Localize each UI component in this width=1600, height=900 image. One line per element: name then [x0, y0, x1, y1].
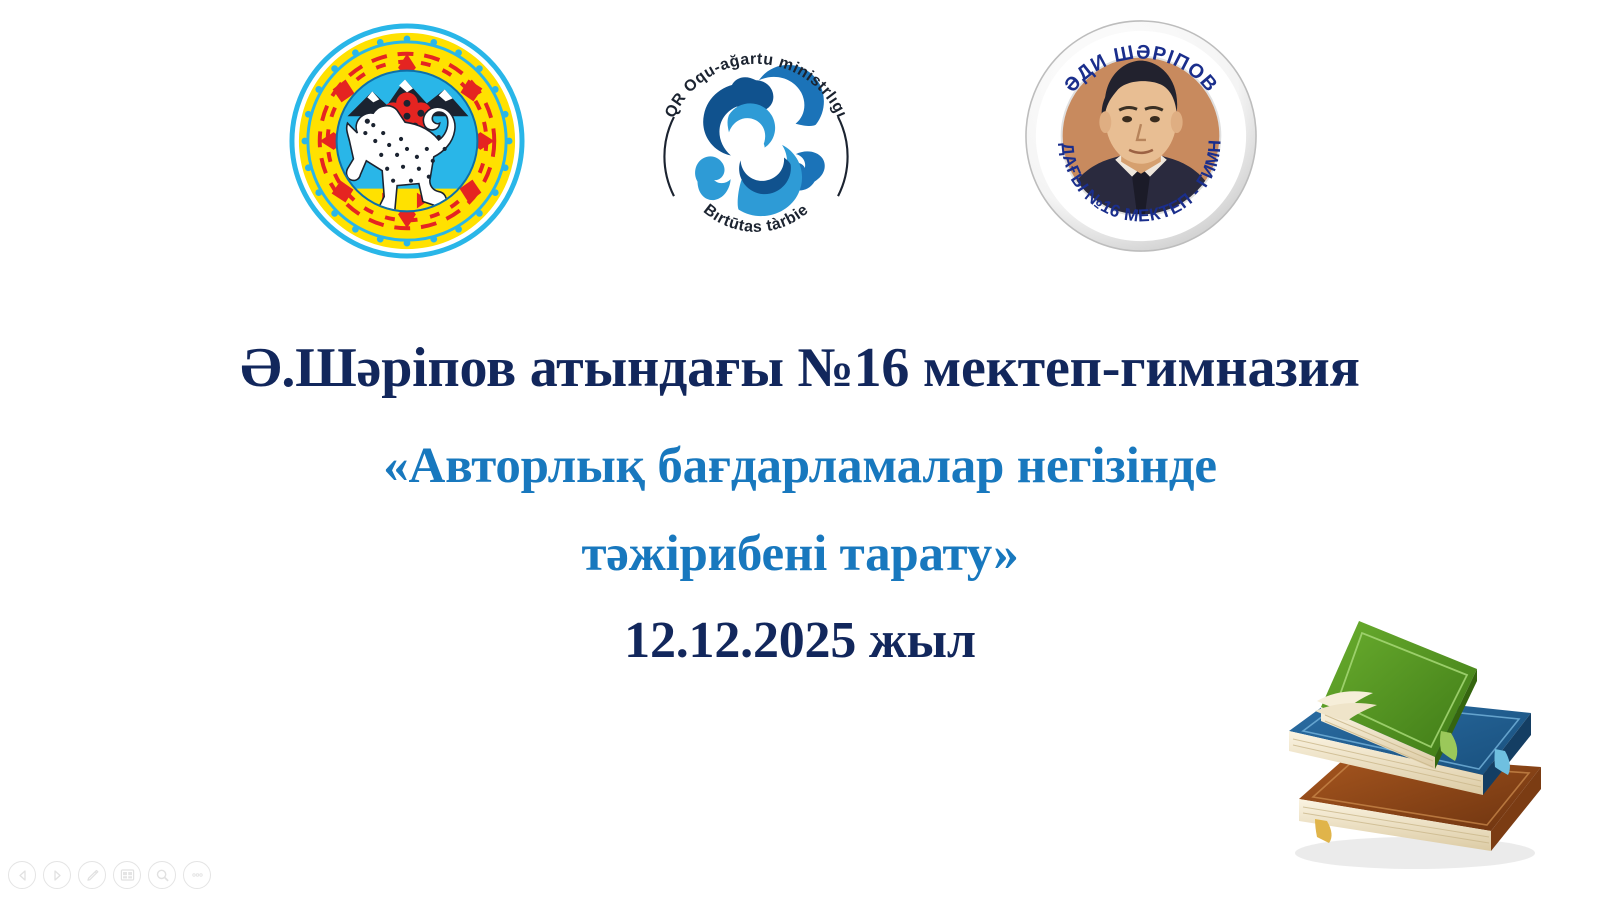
presentation-toolbar: [8, 858, 211, 892]
triangle-left-icon: [16, 869, 29, 882]
grid-icon: [120, 868, 135, 882]
school-badge-icon: ӘДИ ШӘРІПОВ АТЫНДАҒЫ №16 МЕКТЕП - ГИМНАЗ…: [1022, 12, 1260, 262]
zoom-slide-button[interactable]: [148, 861, 176, 889]
all-slides-button[interactable]: [113, 861, 141, 889]
school-badge-logo: ӘДИ ШӘРІПОВ АТЫНДАҒЫ №16 МЕКТЕП - ГИМНАЗ…: [1022, 12, 1260, 262]
almaty-emblem-icon: [288, 22, 526, 260]
next-slide-button[interactable]: [43, 861, 71, 889]
pen-tools-button[interactable]: [78, 861, 106, 889]
triangle-right-icon: [51, 869, 64, 882]
ministry-of-education-logo: QR Oqu-ağartu ministrlıgı Bırtūtas tàrbi…: [645, 32, 867, 254]
previous-slide-button[interactable]: [8, 861, 36, 889]
presentation-slide: QR Oqu-ağartu ministrlıgı Bırtūtas tàrbi…: [0, 0, 1600, 900]
ministry-emblem-icon: QR Oqu-ağartu ministrlıgı Bırtūtas tàrbi…: [645, 32, 867, 254]
subtitle-line-1: «Авторлық бағдарламалар негізінде: [0, 422, 1600, 510]
almaty-city-emblem-logo: [288, 22, 526, 260]
pen-icon: [85, 868, 100, 883]
ellipsis-icon: [190, 872, 205, 878]
logo-row: QR Oqu-ağartu ministrlıgı Bırtūtas tàrbi…: [0, 0, 1600, 280]
magnifier-icon: [155, 868, 170, 883]
more-options-button[interactable]: [183, 861, 211, 889]
books-icon: [1255, 585, 1575, 875]
stack-of-books-image: [1255, 585, 1575, 875]
page-title: Ә.Шәріпов атындағы №16 мектеп-гимназия: [0, 330, 1600, 406]
